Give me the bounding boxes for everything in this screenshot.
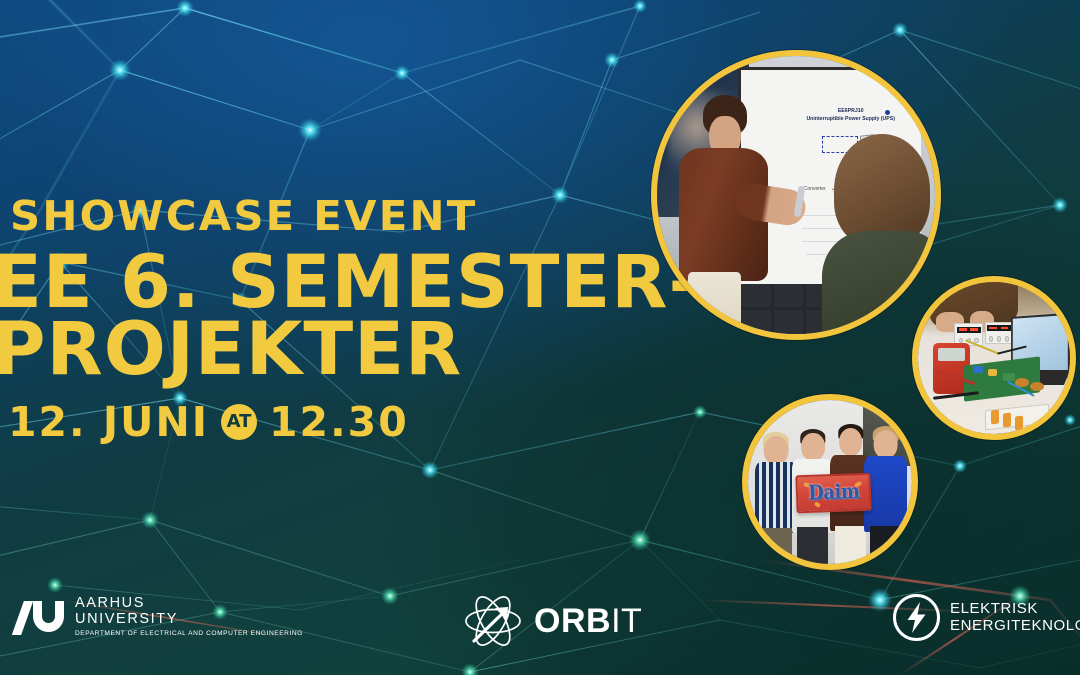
kicker-showcase-event: SHOWCASE EVENT <box>10 196 673 237</box>
lightning-bolt-icon <box>893 594 940 641</box>
elektrisk-energiteknologi-logo: ELEKTRISK ENERGITEKNOLOGI <box>893 594 1080 641</box>
aarhus-university-logo: AARHUS UNIVERSITY DEPARTMENT OF ELECTRIC… <box>14 596 303 637</box>
poster-pin <box>885 110 890 115</box>
au-wordmark: AARHUS UNIVERSITY DEPARTMENT OF ELECTRIC… <box>75 596 303 637</box>
psu-digits <box>989 327 997 330</box>
terminal <box>1015 415 1023 429</box>
poster-label-converter: Converter <box>804 186 826 192</box>
student-1 <box>755 436 798 564</box>
prize-box: Daim <box>795 472 872 512</box>
au-line-1: AARHUS <box>75 596 303 612</box>
multimeter-display <box>938 348 964 361</box>
component <box>1003 373 1015 381</box>
orbit-wordmark: ORBIT <box>534 604 642 638</box>
orbit-word-light: IT <box>611 602 642 640</box>
power-supply <box>985 322 1014 345</box>
component <box>973 366 984 374</box>
headline-line-2: PROJEKTER <box>0 315 660 386</box>
scene-group-with-prize: Daim <box>748 400 912 564</box>
trousers <box>797 527 828 566</box>
shorts <box>870 526 902 566</box>
face <box>764 436 789 465</box>
scene-electronics-lab <box>918 282 1070 434</box>
component <box>988 369 997 377</box>
psu-display <box>987 325 1011 331</box>
eet-line-2: ENERGITEKNOLOGI <box>950 618 1080 635</box>
au-logo-icon <box>14 597 66 637</box>
au-department-line: DEPARTMENT OF ELECTRICAL AND COMPUTER EN… <box>75 630 303 637</box>
hair <box>834 134 929 247</box>
psu-knob <box>997 336 1001 341</box>
time-text: 12.30 <box>269 402 409 443</box>
au-u-shape <box>33 601 64 632</box>
presenting-student <box>671 95 777 334</box>
photo-student-presenting: EE6PRJ10 Uninterruptible Power Supply (U… <box>651 50 941 340</box>
scene-whiteboard-presentation: EE6PRJ10 Uninterruptible Power Supply (U… <box>657 56 935 334</box>
face <box>839 428 863 456</box>
striped-shirt <box>755 462 798 534</box>
psu-digits <box>1001 327 1009 330</box>
photo-lab-bench <box>912 276 1076 440</box>
trousers <box>760 528 792 566</box>
au-slash-shape <box>12 601 33 635</box>
terminal <box>1003 412 1011 426</box>
page-title: EE 6. SEMESTER- PROJEKTER <box>0 248 660 386</box>
face <box>873 430 898 459</box>
eet-line-1: ELEKTRISK <box>950 601 1080 618</box>
terminal <box>991 409 999 423</box>
event-poster: SHOWCASE EVENT EE 6. SEMESTER- PROJEKTER… <box>0 0 1080 675</box>
orbit-word-bold: ORB <box>534 602 611 640</box>
shorts <box>688 272 741 334</box>
shorts <box>835 526 866 567</box>
orbit-logo: ORBIT <box>462 590 642 652</box>
face <box>801 433 825 461</box>
psu-display <box>957 327 981 333</box>
psu-digits <box>959 328 967 331</box>
orbit-atom-icon <box>462 590 524 652</box>
date-text: 12. JUNI <box>8 402 209 443</box>
photo-student-group: Daim <box>742 394 918 570</box>
eet-wordmark: ELEKTRISK ENERGITEKNOLOGI <box>950 601 1080 635</box>
prize-box-brand: Daim <box>807 480 859 505</box>
psu-knob <box>1005 336 1009 341</box>
psu-knob <box>989 336 993 341</box>
at-badge-icon: AT <box>221 404 257 440</box>
poster-text-block: SHOWCASE EVENT EE 6. SEMESTER- PROJEKTER… <box>0 196 660 443</box>
poster-project-title: Uninterruptible Power Supply (UPS) <box>800 115 901 123</box>
event-date-time: 12. JUNI AT 12.30 <box>8 402 660 443</box>
au-line-2: UNIVERSITY <box>75 612 303 628</box>
psu-digits <box>970 328 978 331</box>
